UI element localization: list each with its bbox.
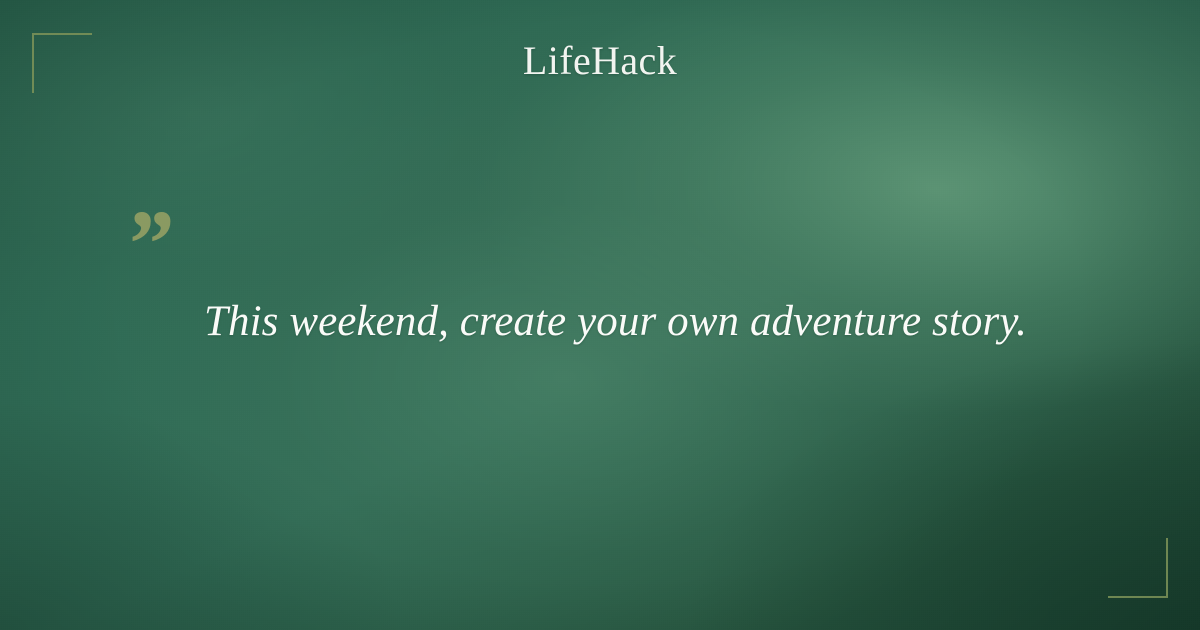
quote-text: This weekend, create your own adventure … — [204, 296, 1104, 348]
quote-card: LifeHack ” This weekend, create your own… — [0, 0, 1200, 630]
brand-logo: LifeHack — [0, 36, 1200, 86]
corner-bracket-bottom-right-icon — [1108, 538, 1168, 598]
quote-mark-icon: ” — [124, 196, 172, 292]
